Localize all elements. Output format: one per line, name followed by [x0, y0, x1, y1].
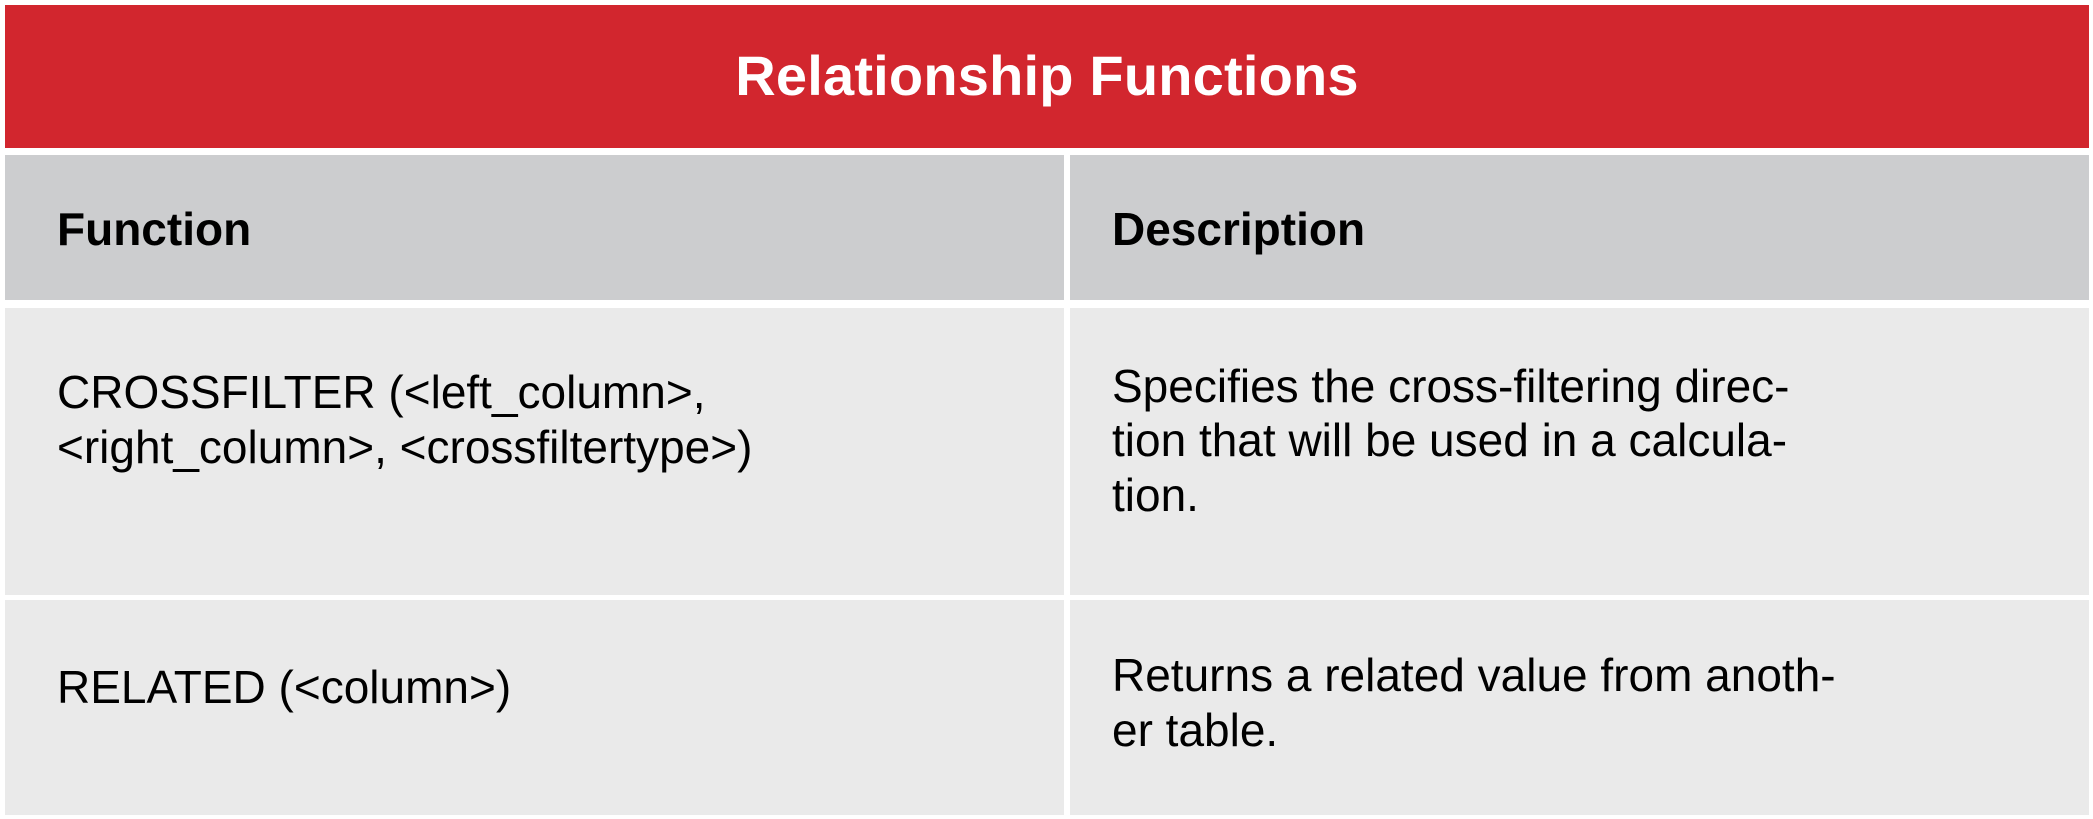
function-signature: CROSSFILTER (<left_column>, <right_colum…	[57, 365, 1036, 474]
function-description: Returns a related value from anoth- er t…	[1112, 648, 2059, 757]
table-header-row: Function Description	[5, 155, 2089, 300]
functions-table: Function Description CROSSFILTER (<left_…	[5, 155, 2089, 815]
slide: Relationship Functions Function Descript…	[0, 0, 2093, 819]
function-signature: RELATED (<column>)	[57, 660, 1036, 714]
title-banner: Relationship Functions	[5, 5, 2089, 148]
cell-description: Returns a related value from anoth- er t…	[1070, 600, 2089, 815]
cell-function: CROSSFILTER (<left_column>, <right_colum…	[5, 308, 1064, 595]
table-header-cell-function: Function	[5, 155, 1064, 300]
function-description: Specifies the cross-filtering direc- tio…	[1112, 359, 2059, 522]
table-row: RELATED (<column>) Returns a related val…	[5, 600, 2089, 815]
column-header-function: Function	[57, 204, 1036, 255]
table-header-cell-description: Description	[1070, 155, 2089, 300]
cell-description: Specifies the cross-filtering direc- tio…	[1070, 308, 2089, 595]
table-row: CROSSFILTER (<left_column>, <right_colum…	[5, 308, 2089, 595]
page-title: Relationship Functions	[735, 47, 1359, 106]
column-header-description: Description	[1112, 204, 2059, 255]
cell-function: RELATED (<column>)	[5, 600, 1064, 815]
